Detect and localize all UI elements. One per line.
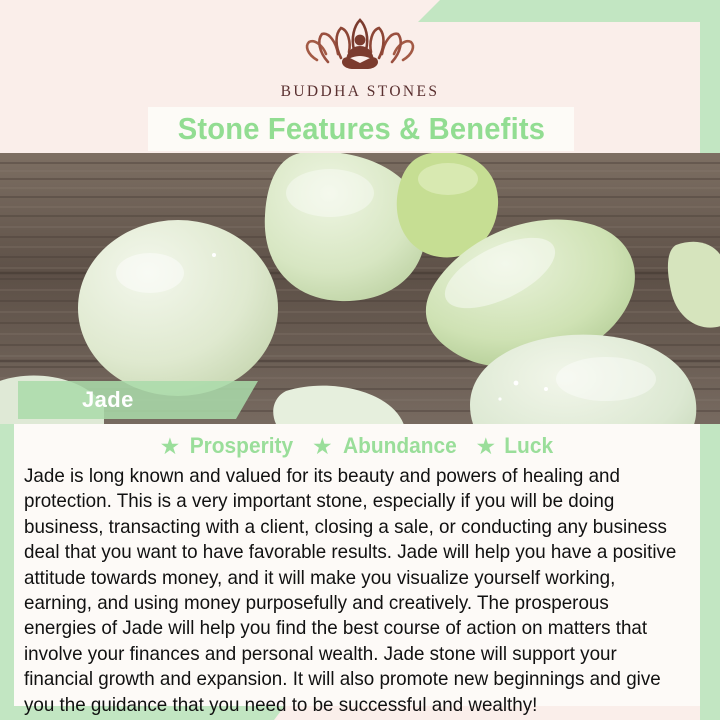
stone-name: Jade bbox=[82, 387, 134, 413]
star-icon: ★ bbox=[475, 435, 496, 458]
page-title: Stone Features & Benefits bbox=[177, 111, 544, 147]
content-panel: ★ Prosperity ★ Abundance ★ Luck Jade is … bbox=[14, 424, 700, 706]
benefit-item-luck: ★ Luck bbox=[475, 433, 554, 459]
decor-bar-left-lower bbox=[0, 425, 14, 720]
benefit-label: Luck bbox=[504, 433, 553, 459]
benefit-item-abundance: ★ Abundance bbox=[312, 433, 459, 459]
brand-logo: BUDDHA STONES bbox=[0, 14, 720, 101]
decor-bar-right-lower bbox=[700, 422, 720, 720]
stone-info-card: BUDDHA STONES Stone Features & Benefits bbox=[0, 0, 720, 720]
stone-name-banner: Jade bbox=[18, 381, 258, 419]
brand-name: BUDDHA STONES bbox=[281, 83, 440, 101]
lotus-meditation-icon bbox=[297, 14, 423, 80]
benefit-label: Abundance bbox=[343, 433, 457, 459]
benefit-item-prosperity: ★ Prosperity bbox=[160, 433, 296, 459]
star-icon: ★ bbox=[312, 435, 333, 458]
stone-description: Jade is long known and valued for its be… bbox=[24, 464, 680, 718]
benefits-row: ★ Prosperity ★ Abundance ★ Luck bbox=[14, 424, 700, 462]
title-band: Stone Features & Benefits bbox=[148, 107, 574, 151]
star-icon: ★ bbox=[160, 435, 181, 458]
benefit-label: Prosperity bbox=[190, 433, 293, 459]
